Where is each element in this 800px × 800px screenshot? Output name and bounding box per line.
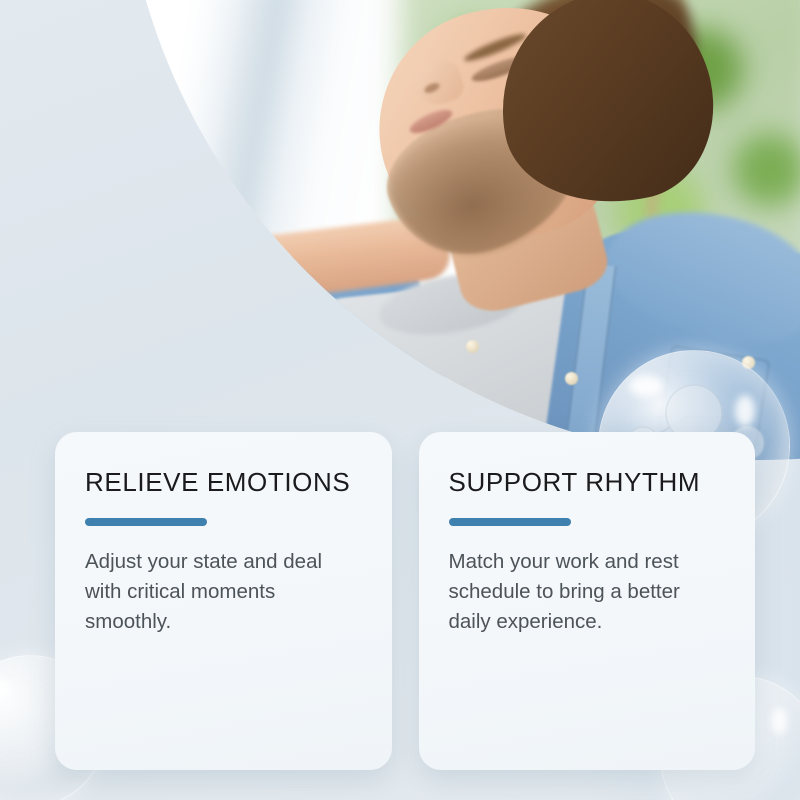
poster-canvas: RELIEVE EMOTIONS Adjust your state and d… <box>0 0 800 800</box>
feature-cards: RELIEVE EMOTIONS Adjust your state and d… <box>55 432 755 770</box>
bubble-highlight <box>771 707 787 735</box>
card-relieve-emotions[interactable]: RELIEVE EMOTIONS Adjust your state and d… <box>55 432 392 770</box>
bubble-highlight <box>0 678 11 698</box>
card-body: Match your work and rest schedule to bri… <box>449 547 726 638</box>
card-body: Adjust your state and deal with critical… <box>85 547 362 638</box>
bubble-highlight <box>735 395 755 427</box>
shirt-button <box>466 340 479 353</box>
card-support-rhythm[interactable]: SUPPORT RHYTHM Match your work and rest … <box>419 432 756 770</box>
card-accent-rule <box>449 518 571 526</box>
card-accent-rule <box>85 518 207 526</box>
card-title: RELIEVE EMOTIONS <box>85 466 362 499</box>
bubble-highlight <box>629 375 663 397</box>
shirt-button <box>565 372 578 385</box>
card-title: SUPPORT RHYTHM <box>449 466 726 499</box>
